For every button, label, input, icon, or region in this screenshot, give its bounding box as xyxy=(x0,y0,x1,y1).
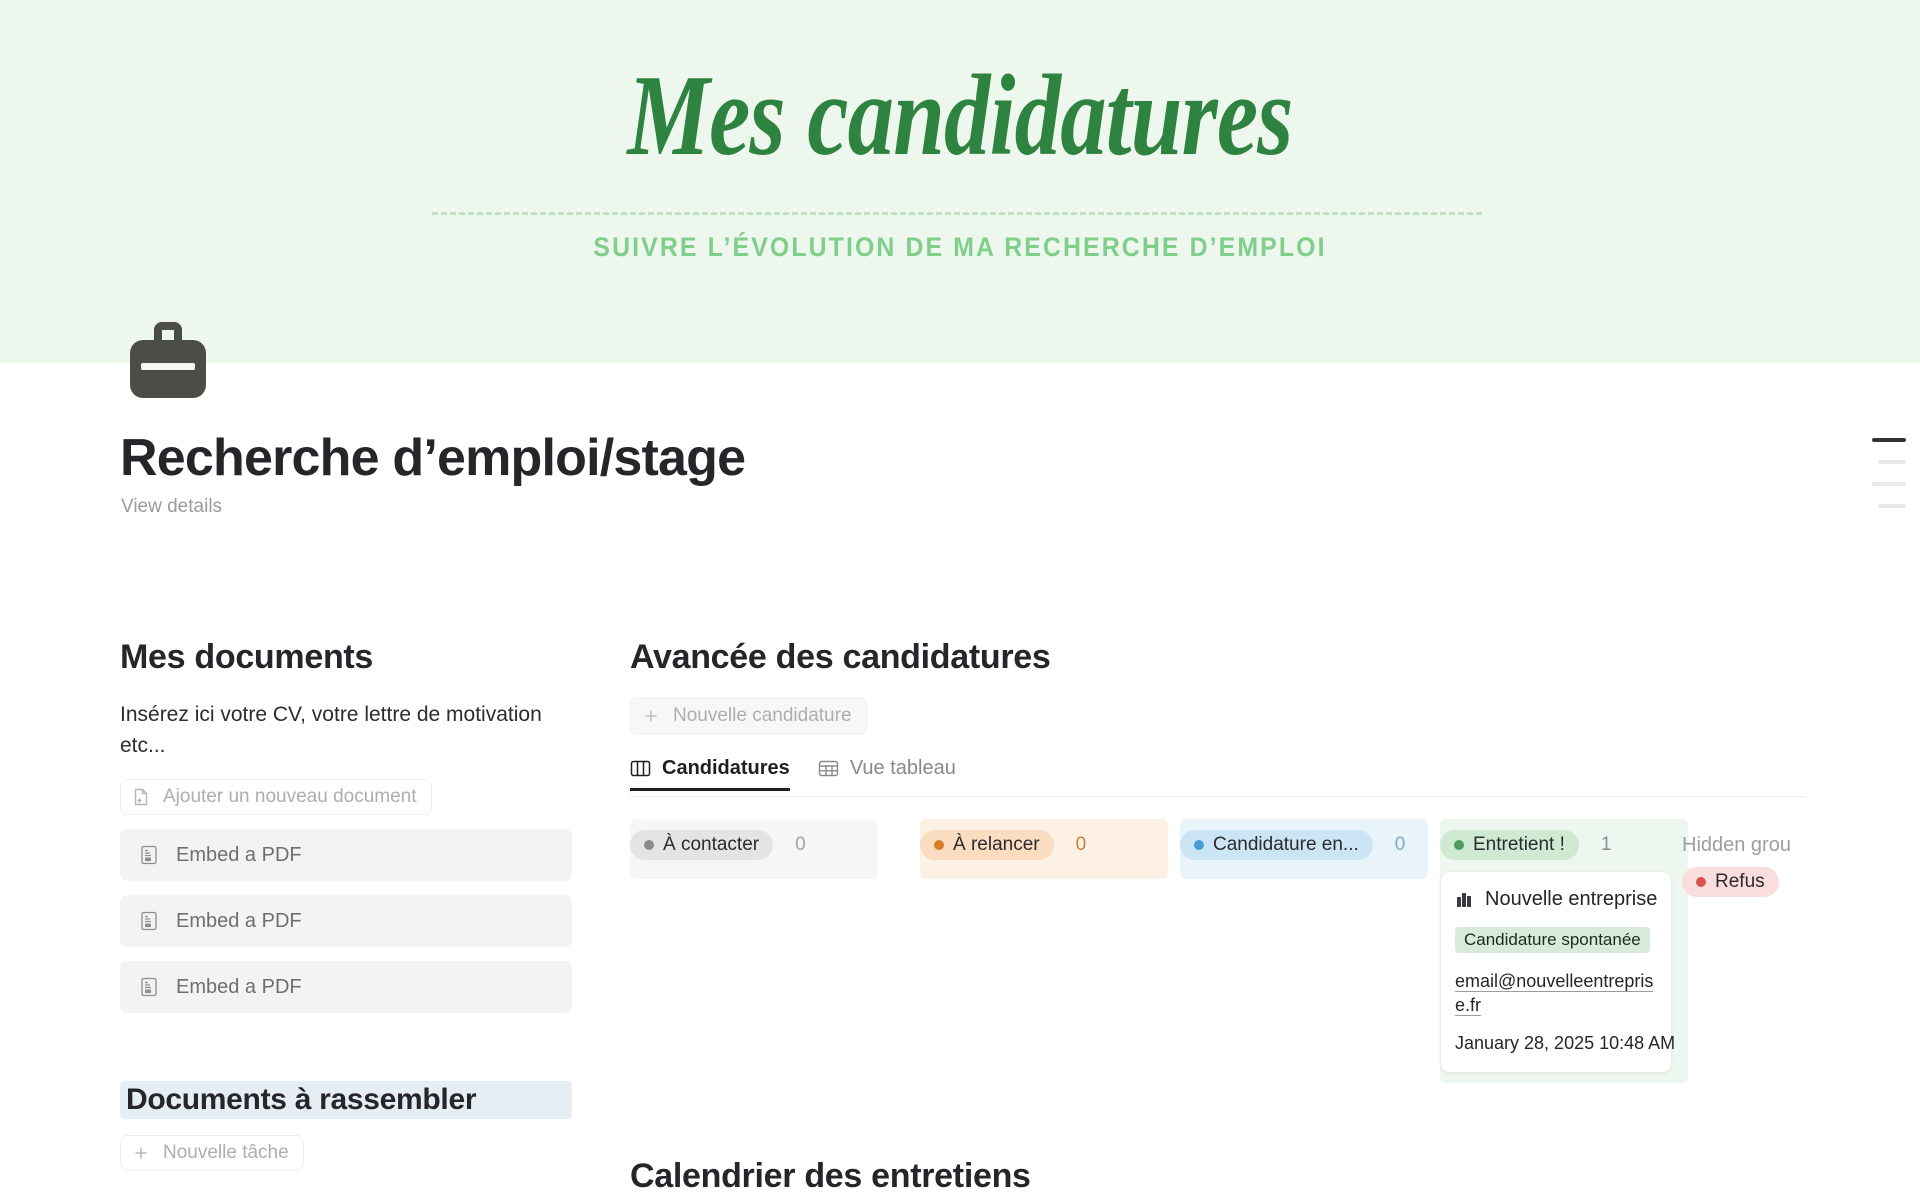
tasks-heading-highlight: Documents à rassembler xyxy=(120,1081,572,1119)
status-badge[interactable]: Candidature en... xyxy=(1180,830,1373,860)
status-dot-icon xyxy=(934,840,944,850)
pdf-document-icon xyxy=(138,844,160,866)
view-details-link[interactable]: View details xyxy=(121,496,222,518)
page-title: Recherche d’emploi/stage xyxy=(120,428,745,488)
column-count: 0 xyxy=(1395,834,1406,856)
embed-pdf-label: Embed a PDF xyxy=(176,976,302,999)
plus-icon xyxy=(131,1143,151,1163)
status-label: Candidature en... xyxy=(1213,834,1359,856)
embed-pdf-label: Embed a PDF xyxy=(176,910,302,933)
hero-banner: Mes candidatures SUIVRE L’ÉVOLUTION DE M… xyxy=(0,0,1920,363)
kanban-column-entretient: Entretient ! 1 Nouvelle entrep xyxy=(1440,819,1688,1073)
toc-item[interactable] xyxy=(1878,460,1906,464)
card-title-row: Nouvelle entreprise xyxy=(1455,888,1657,911)
table-of-contents-rail[interactable] xyxy=(1858,438,1906,526)
new-task-button[interactable]: Nouvelle tâche xyxy=(120,1135,304,1171)
status-dot-icon xyxy=(1194,840,1204,850)
plus-icon xyxy=(641,706,661,726)
tab-candidatures-label: Candidatures xyxy=(662,757,790,780)
hero-dashed-divider xyxy=(432,212,1482,215)
add-document-button[interactable]: Ajouter un nouveau document xyxy=(120,779,432,815)
board-view-icon xyxy=(630,759,651,778)
card-email-link[interactable]: email@nouvelleentreprise.fr xyxy=(1455,969,1657,1017)
documents-description: Insérez ici votre CV, votre lettre de mo… xyxy=(120,699,568,761)
document-plus-icon xyxy=(131,787,151,807)
kanban-column-candidature-en-cours: Candidature en... 0 xyxy=(1180,819,1428,871)
hero-title: Mes candidatures xyxy=(192,56,1728,176)
calendar-heading: Calendrier des entretiens xyxy=(630,1157,1031,1196)
pdf-document-icon xyxy=(138,910,160,932)
add-document-label: Ajouter un nouveau document xyxy=(163,786,417,808)
status-label: À relancer xyxy=(953,834,1040,856)
card-date: January 28, 2025 10:48 AM xyxy=(1455,1033,1657,1054)
column-header[interactable]: Candidature en... 0 xyxy=(1180,819,1428,871)
status-dot-icon xyxy=(644,840,654,850)
embed-pdf-row[interactable]: Embed a PDF xyxy=(120,961,572,1013)
view-tabs: Candidatures Vue tableau xyxy=(630,757,1920,797)
column-header[interactable]: À contacter 0 xyxy=(630,819,878,871)
column-count: 1 xyxy=(1601,834,1612,856)
pdf-document-icon xyxy=(138,976,160,998)
briefcase-icon xyxy=(130,322,206,398)
kanban-board: À contacter 0 À relancer 0 xyxy=(630,819,1920,1089)
column-header[interactable]: Entretient ! 1 xyxy=(1440,819,1688,871)
status-badge[interactable]: Entretient ! xyxy=(1440,830,1579,860)
status-badge[interactable]: À relancer xyxy=(920,830,1054,860)
embed-pdf-label: Embed a PDF xyxy=(176,844,302,867)
hidden-group-refus[interactable]: Refus xyxy=(1682,867,1920,897)
column-count: 0 xyxy=(1076,834,1087,856)
new-task-label: Nouvelle tâche xyxy=(163,1142,289,1164)
column-header[interactable]: À relancer 0 xyxy=(920,819,1168,871)
card-title: Nouvelle entreprise xyxy=(1485,888,1657,911)
applications-section: Avancée des candidatures Nouvelle candid… xyxy=(630,638,1920,1089)
applications-heading: Avancée des candidatures xyxy=(630,638,1920,677)
application-card[interactable]: Nouvelle entreprise Candidature spontané… xyxy=(1440,871,1672,1073)
card-email-text: email@nouvelleentreprise.fr xyxy=(1455,971,1653,1016)
documents-heading: Mes documents xyxy=(120,638,572,677)
toc-item-active[interactable] xyxy=(1872,438,1906,442)
toc-item[interactable] xyxy=(1878,504,1906,508)
hidden-groups-area: Hidden grou Refus xyxy=(1682,819,1920,897)
embed-pdf-row[interactable]: Embed a PDF xyxy=(120,895,572,947)
kanban-column-a-relancer: À relancer 0 xyxy=(920,819,1168,871)
card-tag: Candidature spontanée xyxy=(1455,927,1650,953)
column-count: 0 xyxy=(795,834,806,856)
kanban-column-a-contacter: À contacter 0 xyxy=(630,819,878,871)
status-label: Refus xyxy=(1715,871,1765,893)
status-badge[interactable]: À contacter xyxy=(630,830,773,860)
status-dot-icon xyxy=(1454,840,1464,850)
hidden-groups-label: Hidden grou xyxy=(1682,819,1920,871)
tab-candidatures[interactable]: Candidatures xyxy=(630,757,790,791)
status-dot-icon xyxy=(1696,877,1706,887)
status-badge-refus[interactable]: Refus xyxy=(1682,867,1779,897)
new-application-button[interactable]: Nouvelle candidature xyxy=(630,697,867,735)
documents-section: Mes documents Insérez ici votre CV, votr… xyxy=(120,638,572,1171)
company-building-icon xyxy=(1455,890,1474,909)
embed-pdf-row[interactable]: Embed a PDF xyxy=(120,829,572,881)
tab-vue-tableau-label: Vue tableau xyxy=(850,757,956,780)
toc-item[interactable] xyxy=(1872,482,1906,486)
page-root: Mes candidatures SUIVRE L’ÉVOLUTION DE M… xyxy=(0,0,1920,1199)
new-application-label: Nouvelle candidature xyxy=(673,705,852,727)
tasks-heading: Documents à rassembler xyxy=(126,1083,566,1117)
briefcase-stripe xyxy=(141,363,195,370)
tab-vue-tableau[interactable]: Vue tableau xyxy=(818,757,956,791)
hero-subtitle: SUIVRE L’ÉVOLUTION DE MA RECHERCHE D’EMP… xyxy=(77,232,1843,263)
status-label: Entretient ! xyxy=(1473,834,1565,856)
status-label: À contacter xyxy=(663,834,759,856)
table-view-icon xyxy=(818,759,839,778)
